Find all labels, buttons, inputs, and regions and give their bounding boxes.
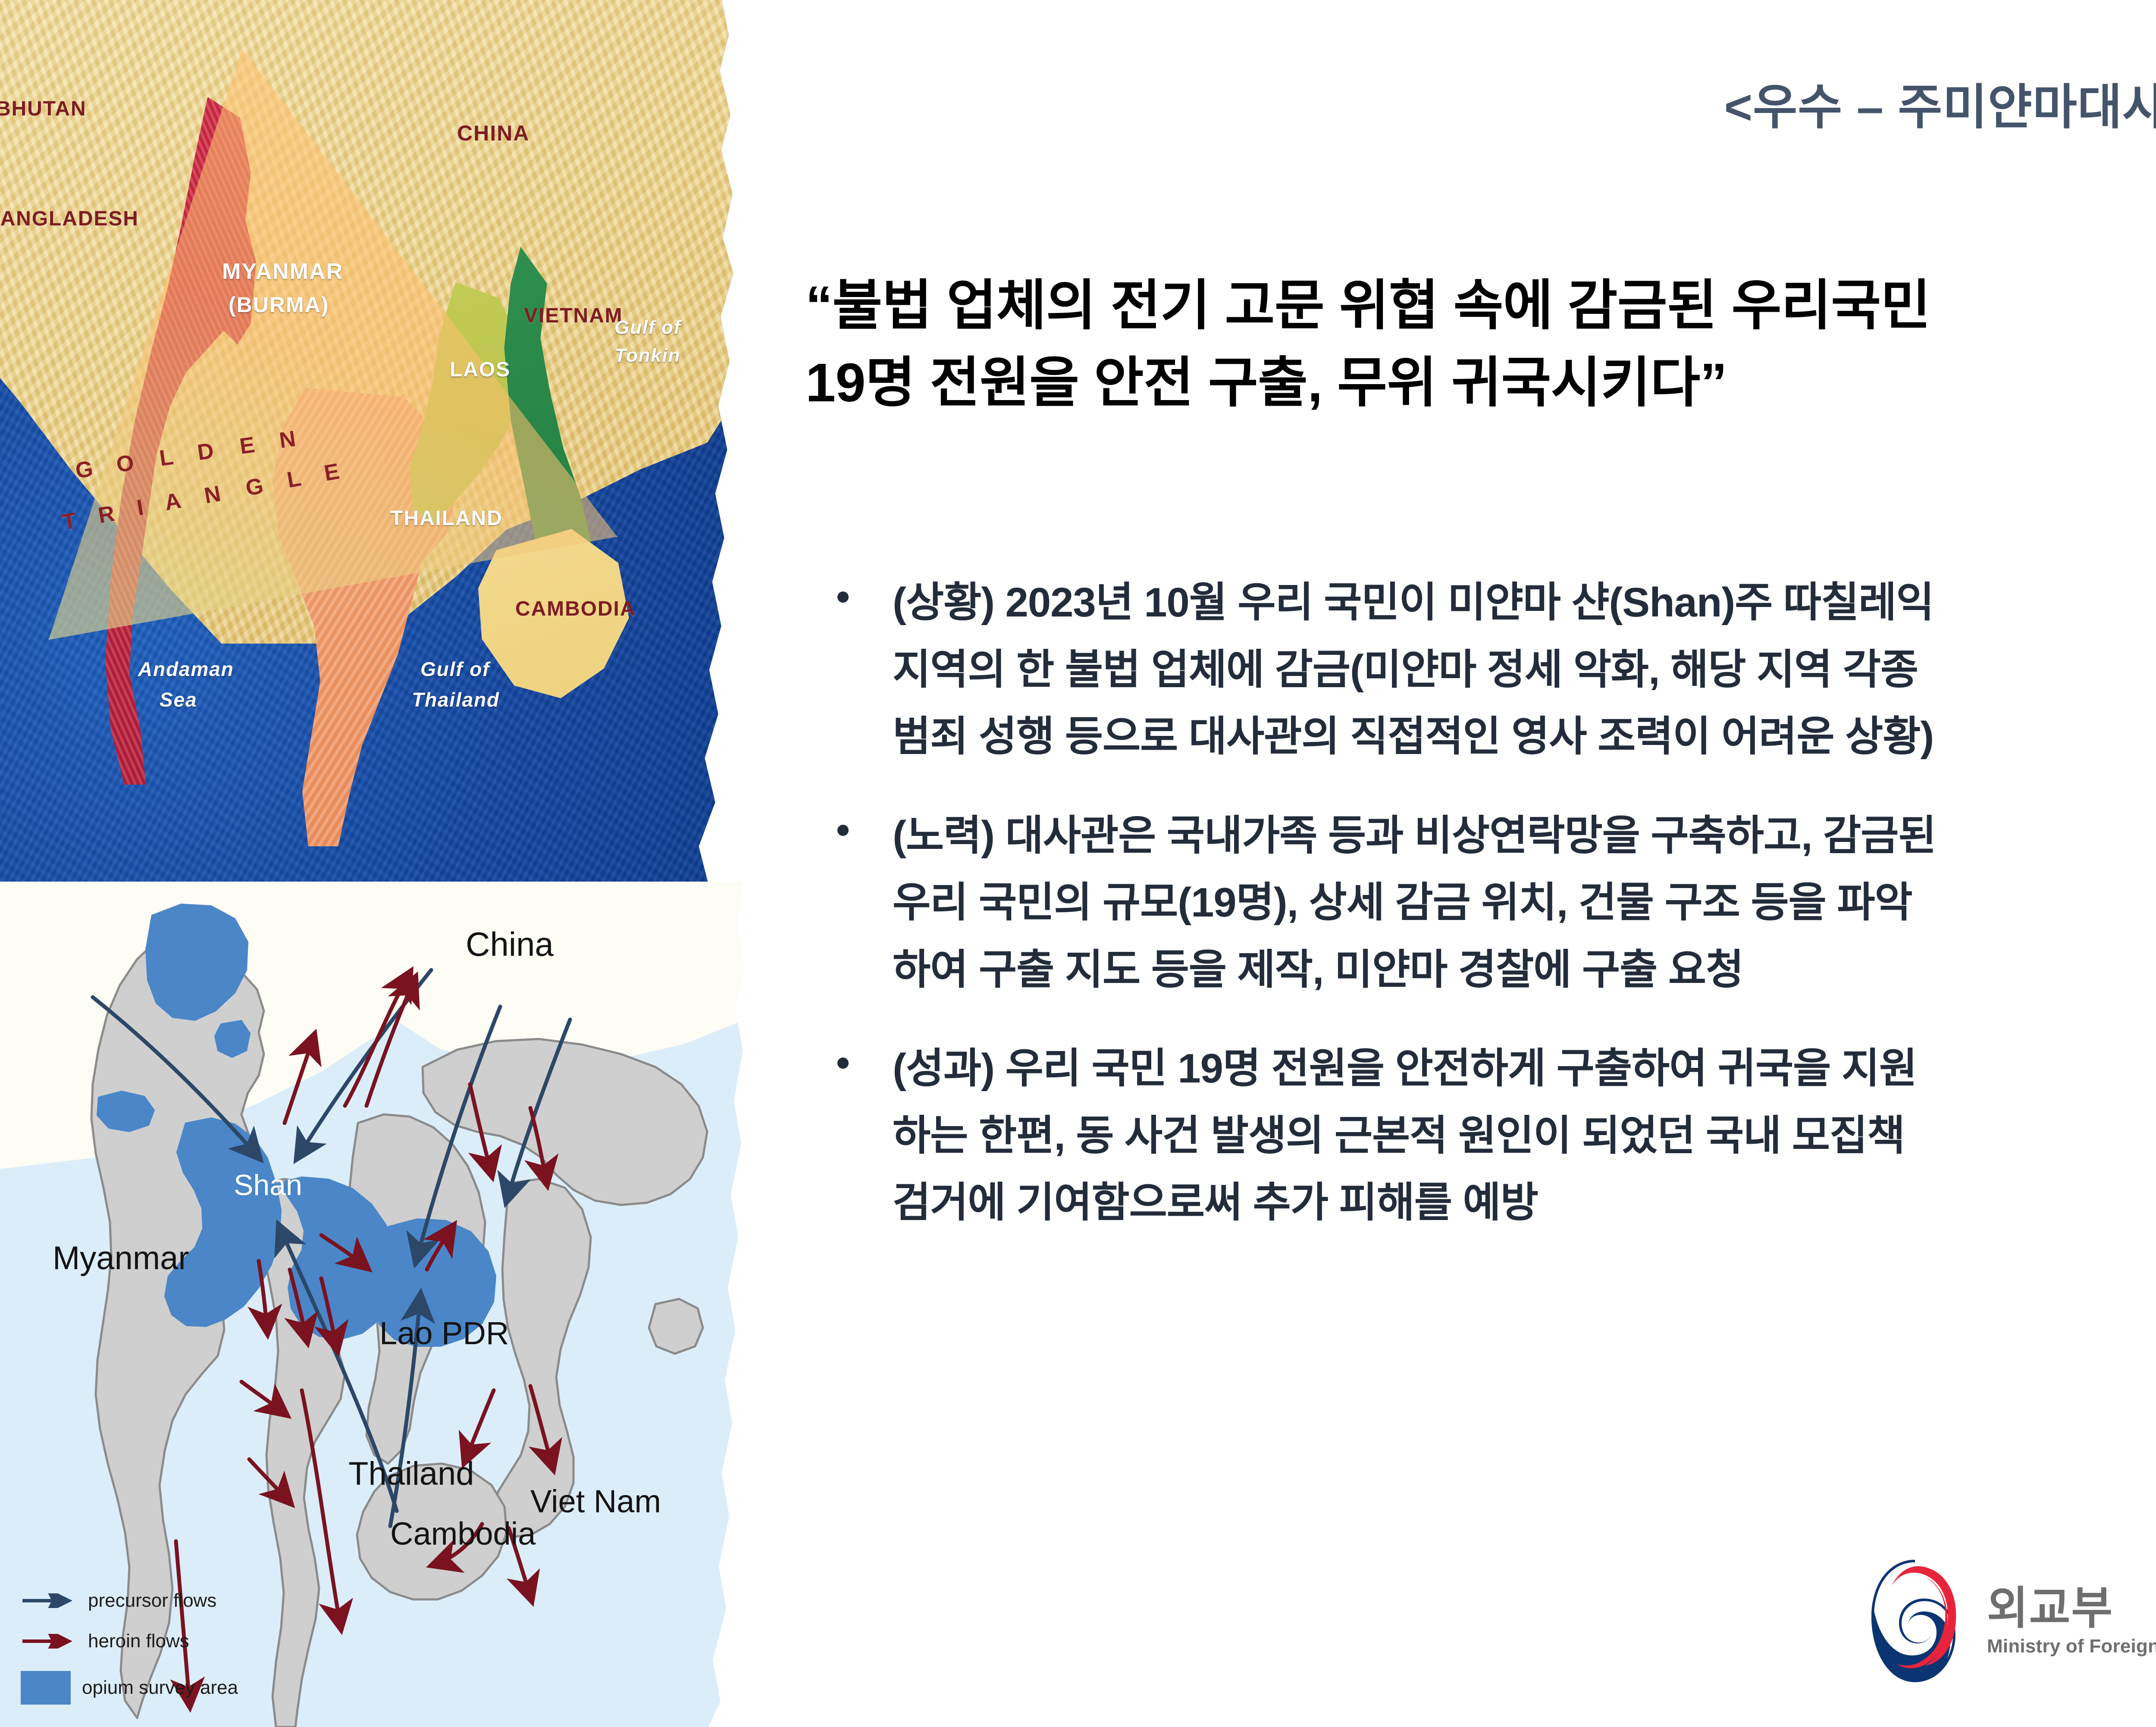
- slide-title: “불법 업체의 전기 고문 위협 속에 감금된 우리국민 19명 전원을 안전 …: [805, 267, 2156, 422]
- bullet-item-effort: (노력) 대사관은 국내가족 등과 비상연락망을 구축하고, 감금된 우리 국민…: [819, 802, 2156, 1004]
- bullet-1-line-2: 지역의 한 불법 업체에 감금(미얀마 정세 악화, 해당 지역 각종: [893, 636, 2156, 704]
- opium-map-legend: precursor flows heroin flows: [21, 1590, 238, 1705]
- slide-title-line-1: “불법 업체의 전기 고문 위협 속에 감금된 우리국민: [805, 267, 2156, 344]
- bullet-3-line-1: (성과) 우리 국민 19명 전원을 안전하게 구출하여 귀국을 지원: [893, 1035, 2156, 1102]
- bullet-3-line-2: 하는 한편, 동 사건 발생의 근본적 원인이 되었던 국내 모집책: [893, 1102, 2156, 1170]
- mofa-english-name: Ministry of Foreign Affairs: [1987, 1637, 2156, 1656]
- mofa-logo: 외교부 Ministry of Foreign Affairs: [1867, 1556, 2156, 1686]
- legend-label-opium-survey-area: opium survey area: [82, 1677, 238, 1699]
- legend-label-precursor-flows: precursor flows: [88, 1590, 216, 1611]
- opium-flow-map: China Shan Myanmar Lao PDR Thailand Camb…: [0, 882, 750, 1727]
- golden-triangle-map: BHUTAN BANGLADESH CHINA VIETNAM LAOS THA…: [0, 0, 748, 882]
- hainan-island-shape: [649, 1299, 703, 1354]
- opium-label-thailand: Thailand: [348, 1455, 474, 1492]
- opium-label-china: China: [466, 925, 554, 964]
- opium-label-shan: Shan: [234, 1168, 302, 1202]
- heroin-arrow-icon: [21, 1634, 77, 1649]
- bullet-item-situation: (상황) 2023년 10월 우리 국민이 미얀마 샨(Shan)주 따칠레익 …: [819, 569, 2156, 770]
- slide-header-label: <우수 – 주미얀마대사관>: [1724, 68, 2156, 138]
- mofa-taegeuk-icon: [1867, 1556, 1963, 1686]
- bullet-2-line-2: 우리 국민의 규모(19명), 상세 감금 위치, 건물 구조 등을 파악: [893, 869, 2156, 936]
- legend-row-opium-survey-area: opium survey area: [21, 1671, 238, 1705]
- bullet-1-line-3: 범죄 성행 등으로 대사관의 직접적인 영사 조력이 어려운 상황): [893, 703, 2156, 770]
- opium-label-cambodia: Cambodia: [390, 1515, 536, 1552]
- legend-row-precursor-flows: precursor flows: [21, 1590, 238, 1611]
- bullet-3-line-3: 검거에 기여함으로써 추가 피해를 예방: [893, 1169, 2156, 1236]
- opium-label-lao-pdr: Lao PDR: [379, 1315, 509, 1352]
- left-image-column: BHUTAN BANGLADESH CHINA VIETNAM LAOS THA…: [0, 0, 752, 1727]
- bullet-dot-icon: [837, 591, 849, 603]
- legend-label-heroin-flows: heroin flows: [88, 1630, 189, 1652]
- bullet-dot-icon: [837, 825, 849, 836]
- legend-row-heroin-flows: heroin flows: [21, 1630, 238, 1652]
- mofa-logo-text: 외교부 Ministry of Foreign Affairs: [1987, 1586, 2156, 1656]
- precursor-arrow-icon: [21, 1593, 77, 1608]
- opium-label-viet-nam: Viet Nam: [530, 1483, 661, 1520]
- opium-survey-swatch-icon: [21, 1671, 71, 1705]
- bullet-item-outcome: (성과) 우리 국민 19명 전원을 안전하게 구출하여 귀국을 지원 하는 한…: [819, 1035, 2156, 1236]
- slide-canvas: BHUTAN BANGLADESH CHINA VIETNAM LAOS THA…: [0, 0, 2156, 1727]
- bullet-2-line-3: 하여 구출 지도 등을 제작, 미얀마 경찰에 구출 요청: [893, 936, 2156, 1004]
- bullet-list: (상황) 2023년 10월 우리 국민이 미얀마 샨(Shan)주 따칠레익 …: [819, 569, 2156, 1268]
- mofa-korean-name: 외교부: [1987, 1586, 2156, 1631]
- bullet-1-line-1: (상황) 2023년 10월 우리 국민이 미얀마 샨(Shan)주 따칠레익: [893, 569, 2156, 636]
- bullet-2-line-1: (노력) 대사관은 국내가족 등과 비상연락망을 구축하고, 감금된: [893, 802, 2156, 870]
- bullet-dot-icon: [837, 1057, 849, 1069]
- slide-title-line-2: 19명 전원을 안전 구출, 무위 귀국시키다”: [805, 344, 2156, 422]
- opium-label-myanmar: Myanmar: [53, 1239, 189, 1277]
